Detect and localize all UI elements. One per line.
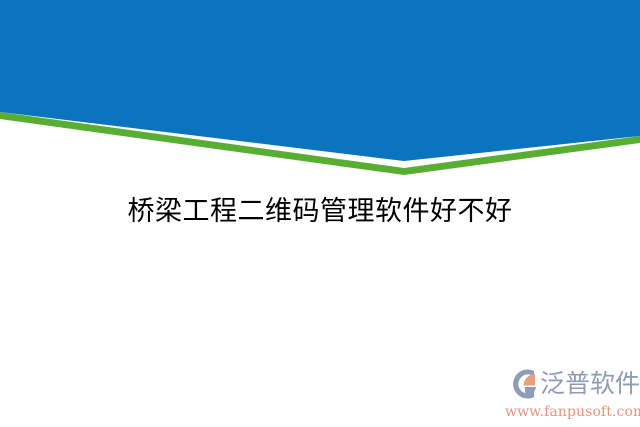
page-title: 桥梁工程二维码管理软件好不好 xyxy=(128,192,513,232)
green-accent-band xyxy=(0,112,640,175)
fanpu-circle-mark-icon xyxy=(504,368,538,400)
logo-url: www.fanpusoft.com xyxy=(504,403,638,421)
blue-chevron-shape xyxy=(0,0,640,161)
header-chevron-banner xyxy=(0,0,640,180)
logo-wordmark: 泛普软件 xyxy=(540,370,640,398)
logo-row: 泛普软件 xyxy=(504,366,638,402)
title-area: 桥梁工程二维码管理软件好不好 xyxy=(0,192,640,232)
slide-canvas: 桥梁工程二维码管理软件好不好 泛普软件 www.fanpusoft.com xyxy=(0,0,640,427)
logo-watermark: 泛普软件 www.fanpusoft.com xyxy=(504,366,638,422)
